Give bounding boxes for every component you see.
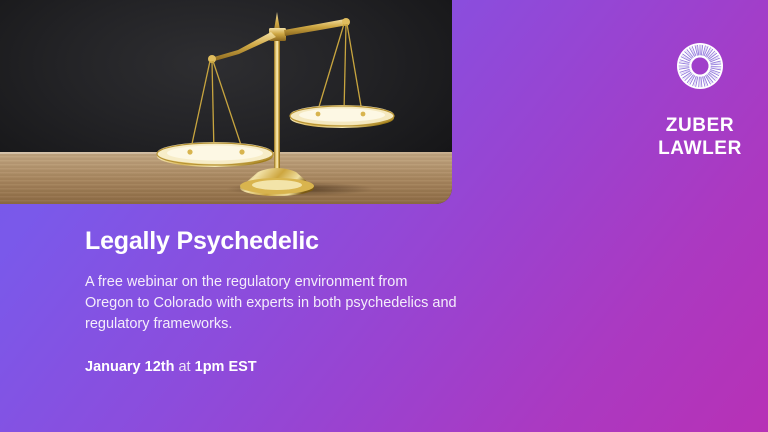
copy-block: Legally Psychedelic A free webinar on th…: [85, 226, 465, 377]
sunburst-ring-icon: [672, 38, 728, 94]
description-text: A free webinar on the regulatory environ…: [85, 272, 457, 335]
brand-lockup: ZUBER LAWLER: [640, 38, 760, 160]
event-datetime: January 12th at 1pm EST: [85, 358, 465, 377]
brand-name: ZUBER LAWLER: [640, 114, 760, 160]
event-time: 1pm EST: [195, 359, 257, 375]
brand-name-line-2: LAWLER: [640, 137, 760, 160]
balance-scales-icon: [0, 0, 452, 204]
brand-name-line-1: ZUBER: [640, 114, 760, 137]
hero-image: [0, 0, 452, 204]
page-title: Legally Psychedelic: [85, 226, 465, 256]
event-date: January 12th: [85, 359, 174, 375]
promo-canvas: Legally Psychedelic A free webinar on th…: [0, 0, 768, 432]
event-datetime-connector: at: [174, 359, 194, 375]
